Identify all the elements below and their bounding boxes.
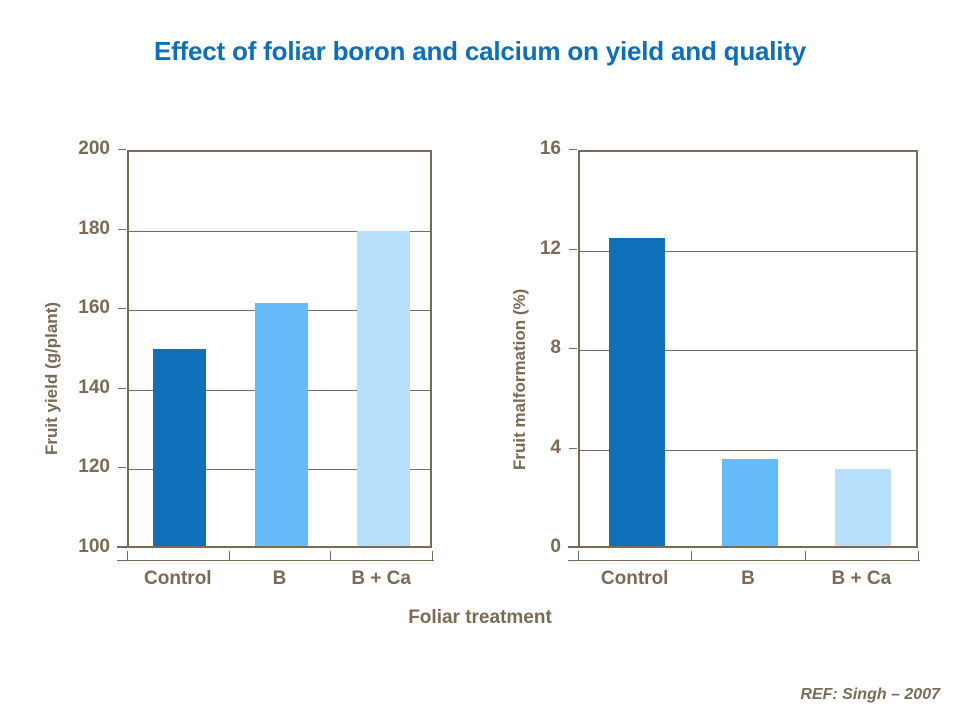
x-axis-title: Foliar treatment: [0, 607, 960, 629]
y-tick-label: 140: [32, 377, 110, 399]
bar-control: [153, 349, 206, 546]
x-tick-label: Control: [578, 568, 691, 590]
y-tick-label: 8: [483, 337, 561, 359]
plot-area-left: [127, 150, 432, 548]
y-tick-mark: [569, 149, 577, 150]
y-tick-mark: [118, 229, 126, 230]
bar-b-ca: [357, 231, 410, 546]
x-axis-line: [117, 560, 434, 561]
x-tick-mark: [691, 551, 692, 561]
y-tick-label: 16: [483, 138, 561, 160]
x-tick-label: B: [691, 568, 804, 590]
y-tick-label: 120: [32, 456, 110, 478]
x-tick-mark: [127, 551, 128, 561]
y-tick-label: 160: [32, 297, 110, 319]
y-tick-label: 100: [32, 536, 110, 558]
bar-control: [609, 238, 665, 546]
x-tick-label: B + Ca: [805, 568, 918, 590]
y-tick-label: 200: [32, 138, 110, 160]
x-tick-label: B + Ca: [330, 568, 432, 590]
y-tick-mark: [569, 448, 577, 449]
x-tick-label: Control: [127, 568, 229, 590]
plot-area-right: [578, 150, 918, 548]
baseline-extension: [568, 546, 578, 548]
y-tick-label: 0: [483, 536, 561, 558]
y-tick-mark: [118, 467, 126, 468]
x-tick-mark: [432, 551, 433, 561]
baseline-extension: [117, 546, 127, 548]
x-tick-mark: [330, 551, 331, 561]
y-tick-mark: [118, 388, 126, 389]
x-tick-mark: [578, 551, 579, 561]
y-tick-label: 12: [483, 238, 561, 260]
bar-b: [722, 459, 778, 546]
y-tick-mark: [569, 348, 577, 349]
y-tick-mark: [118, 308, 126, 309]
x-tick-mark: [805, 551, 806, 561]
x-tick-mark: [918, 551, 919, 561]
x-tick-label: B: [229, 568, 331, 590]
x-tick-mark: [229, 551, 230, 561]
y-tick-mark: [118, 149, 126, 150]
bar-b-ca: [835, 469, 891, 546]
reference-note: REF: Singh – 2007: [800, 686, 940, 704]
bar-b: [255, 303, 308, 546]
y-tick-mark: [569, 249, 577, 250]
y-tick-label: 4: [483, 437, 561, 459]
y-tick-label: 180: [32, 218, 110, 240]
x-axis-line: [568, 560, 920, 561]
